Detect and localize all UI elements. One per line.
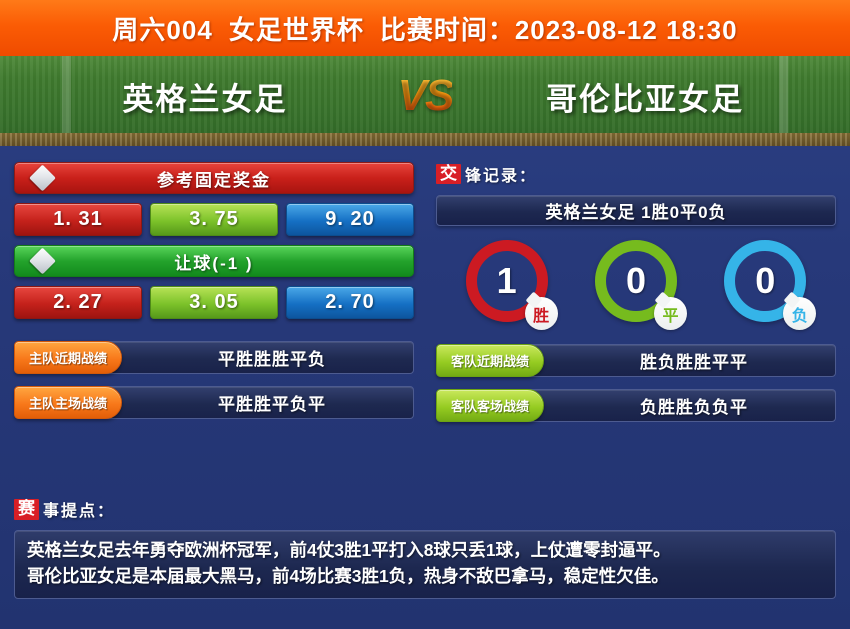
h2h-heading: 交 锋记录：	[436, 162, 836, 186]
h2h-panel: 交 锋记录： 英格兰女足 1胜0平0负 1 胜	[436, 162, 836, 434]
home-home-form-label: 主队主场战绩	[29, 393, 107, 412]
handicap-odd-away[interactable]: 2. 70	[286, 286, 414, 319]
h2h-win-count: 1	[497, 263, 517, 299]
top-columns: 参考固定奖金 1. 31 3. 75 9. 20 让球(-1 ) 2. 27 3…	[14, 162, 836, 434]
h2h-rings: 1 胜 0 平	[436, 240, 836, 322]
h2h-draw-label: 平	[662, 302, 678, 326]
h2h-ring-win: 1 胜	[466, 240, 548, 322]
kickoff-time-value: 2023-08-12 18:30	[515, 15, 738, 45]
h2h-draw-badge: 平	[654, 297, 687, 330]
h2h-ring-draw: 0 平	[595, 240, 677, 322]
fixed-odd-home[interactable]: 1. 31	[14, 203, 142, 236]
handicap-odds-row: 2. 27 3. 05 2. 70	[14, 286, 414, 319]
tips-heading: 赛 事提点：	[14, 497, 836, 521]
home-recent-form-bar: 平胜胜胜平负	[100, 341, 414, 374]
h2h-loss-badge: 负	[783, 297, 816, 330]
home-recent-form-tag: 主队近期战绩	[14, 341, 122, 374]
tips-heading-text: 事提点：	[43, 497, 115, 521]
home-home-form-tag: 主队主场战绩	[14, 386, 122, 419]
fixed-odd-draw[interactable]: 3. 75	[150, 203, 278, 236]
competition-name: 女足世界杯	[229, 15, 364, 45]
body-area: 参考固定奖金 1. 31 3. 75 9. 20 让球(-1 ) 2. 27 3…	[0, 146, 850, 629]
h2h-loss-count: 0	[755, 263, 775, 299]
h2h-summary-bar: 英格兰女足 1胜0平0负	[436, 195, 836, 226]
home-home-form-bar: 平胜胜平负平	[100, 386, 414, 419]
header-bar: 周六004女足世界杯比赛时间：2023-08-12 18:30	[0, 0, 850, 56]
diamond-icon	[29, 248, 56, 275]
away-recent-form-tag: 客队近期战绩	[436, 344, 544, 377]
form-row: 负胜胜负负平 客队客场战绩	[436, 389, 836, 422]
pitch-banner: 英格兰女足 VS 哥伦比亚女足	[0, 56, 850, 146]
header-title: 周六004女足世界杯比赛时间：2023-08-12 18:30	[112, 10, 737, 47]
home-recent-form-value: 平胜胜胜平负	[218, 345, 326, 370]
away-away-form-tag: 客队客场战绩	[436, 389, 544, 422]
away-recent-form-bar: 胜负胜胜平平	[522, 344, 836, 377]
h2h-heading-text: 锋记录：	[465, 162, 537, 186]
tips-section: 赛 事提点： 英格兰女足去年勇夺欧洲杯冠军，前4仗3胜1平打入8球只丢1球，上仗…	[14, 497, 836, 599]
home-team-name: 英格兰女足	[40, 74, 370, 119]
home-form-list: 平胜胜胜平负 主队近期战绩 平胜胜平负平 主队主场战绩	[14, 341, 414, 419]
h2h-win-badge: 胜	[525, 297, 558, 330]
away-away-form-bar: 负胜胜负负平	[522, 389, 836, 422]
vs-icon: VS	[398, 71, 453, 121]
h2h-summary-text: 英格兰女足 1胜0平0负	[545, 198, 726, 223]
handicap-odds-title: 让球(-1 )	[174, 249, 253, 274]
odds-panel: 参考固定奖金 1. 31 3. 75 9. 20 让球(-1 ) 2. 27 3…	[14, 162, 414, 434]
h2h-draw-count: 0	[626, 263, 646, 299]
handicap-odd-draw[interactable]: 3. 05	[150, 286, 278, 319]
match-preview-screen: 周六004女足世界杯比赛时间：2023-08-12 18:30 英格兰女足 VS…	[0, 0, 850, 629]
fixed-odds-row: 1. 31 3. 75 9. 20	[14, 203, 414, 236]
h2h-heading-chip: 交	[436, 164, 461, 185]
home-home-form-value: 平胜胜平负平	[218, 390, 326, 415]
fixed-odd-away[interactable]: 9. 20	[286, 203, 414, 236]
away-team-name: 哥伦比亚女足	[480, 74, 810, 119]
match-number: 周六004	[112, 15, 212, 45]
fixed-odds-title: 参考固定奖金	[157, 166, 271, 191]
away-away-form-value: 负胜胜负负平	[640, 393, 748, 418]
away-away-form-label: 客队客场战绩	[451, 396, 529, 415]
h2h-loss-label: 负	[792, 302, 808, 326]
kickoff-time-label: 比赛时间：	[380, 15, 515, 45]
away-recent-form-label: 客队近期战绩	[451, 351, 529, 370]
home-recent-form-label: 主队近期战绩	[29, 348, 107, 367]
form-row: 胜负胜胜平平 客队近期战绩	[436, 344, 836, 377]
vs-logo-wrap: VS	[370, 71, 480, 121]
tips-line-away: 哥伦比亚女足是本届最大黑马，前4场比赛3胜1负，热身不敌巴拿马，稳定性欠佳。	[27, 564, 823, 589]
away-recent-form-value: 胜负胜胜平平	[640, 348, 748, 373]
form-row: 平胜胜胜平负 主队近期战绩	[14, 341, 414, 374]
handicap-odds-header: 让球(-1 )	[14, 245, 414, 277]
away-form-list: 胜负胜胜平平 客队近期战绩 负胜胜负负平 客队客场战绩	[436, 344, 836, 422]
diamond-icon	[29, 165, 56, 192]
h2h-win-label: 胜	[533, 302, 549, 326]
teams-row: 英格兰女足 VS 哥伦比亚女足	[0, 56, 850, 146]
handicap-odd-home[interactable]: 2. 27	[14, 286, 142, 319]
tips-line-home: 英格兰女足去年勇夺欧洲杯冠军，前4仗3胜1平打入8球只丢1球，上仗遭零封逼平。	[27, 538, 823, 563]
form-row: 平胜胜平负平 主队主场战绩	[14, 386, 414, 419]
fixed-odds-header: 参考固定奖金	[14, 162, 414, 194]
tips-heading-chip: 赛	[14, 499, 39, 520]
h2h-ring-loss: 0 负	[724, 240, 806, 322]
tips-box: 英格兰女足去年勇夺欧洲杯冠军，前4仗3胜1平打入8球只丢1球，上仗遭零封逼平。 …	[14, 530, 836, 599]
